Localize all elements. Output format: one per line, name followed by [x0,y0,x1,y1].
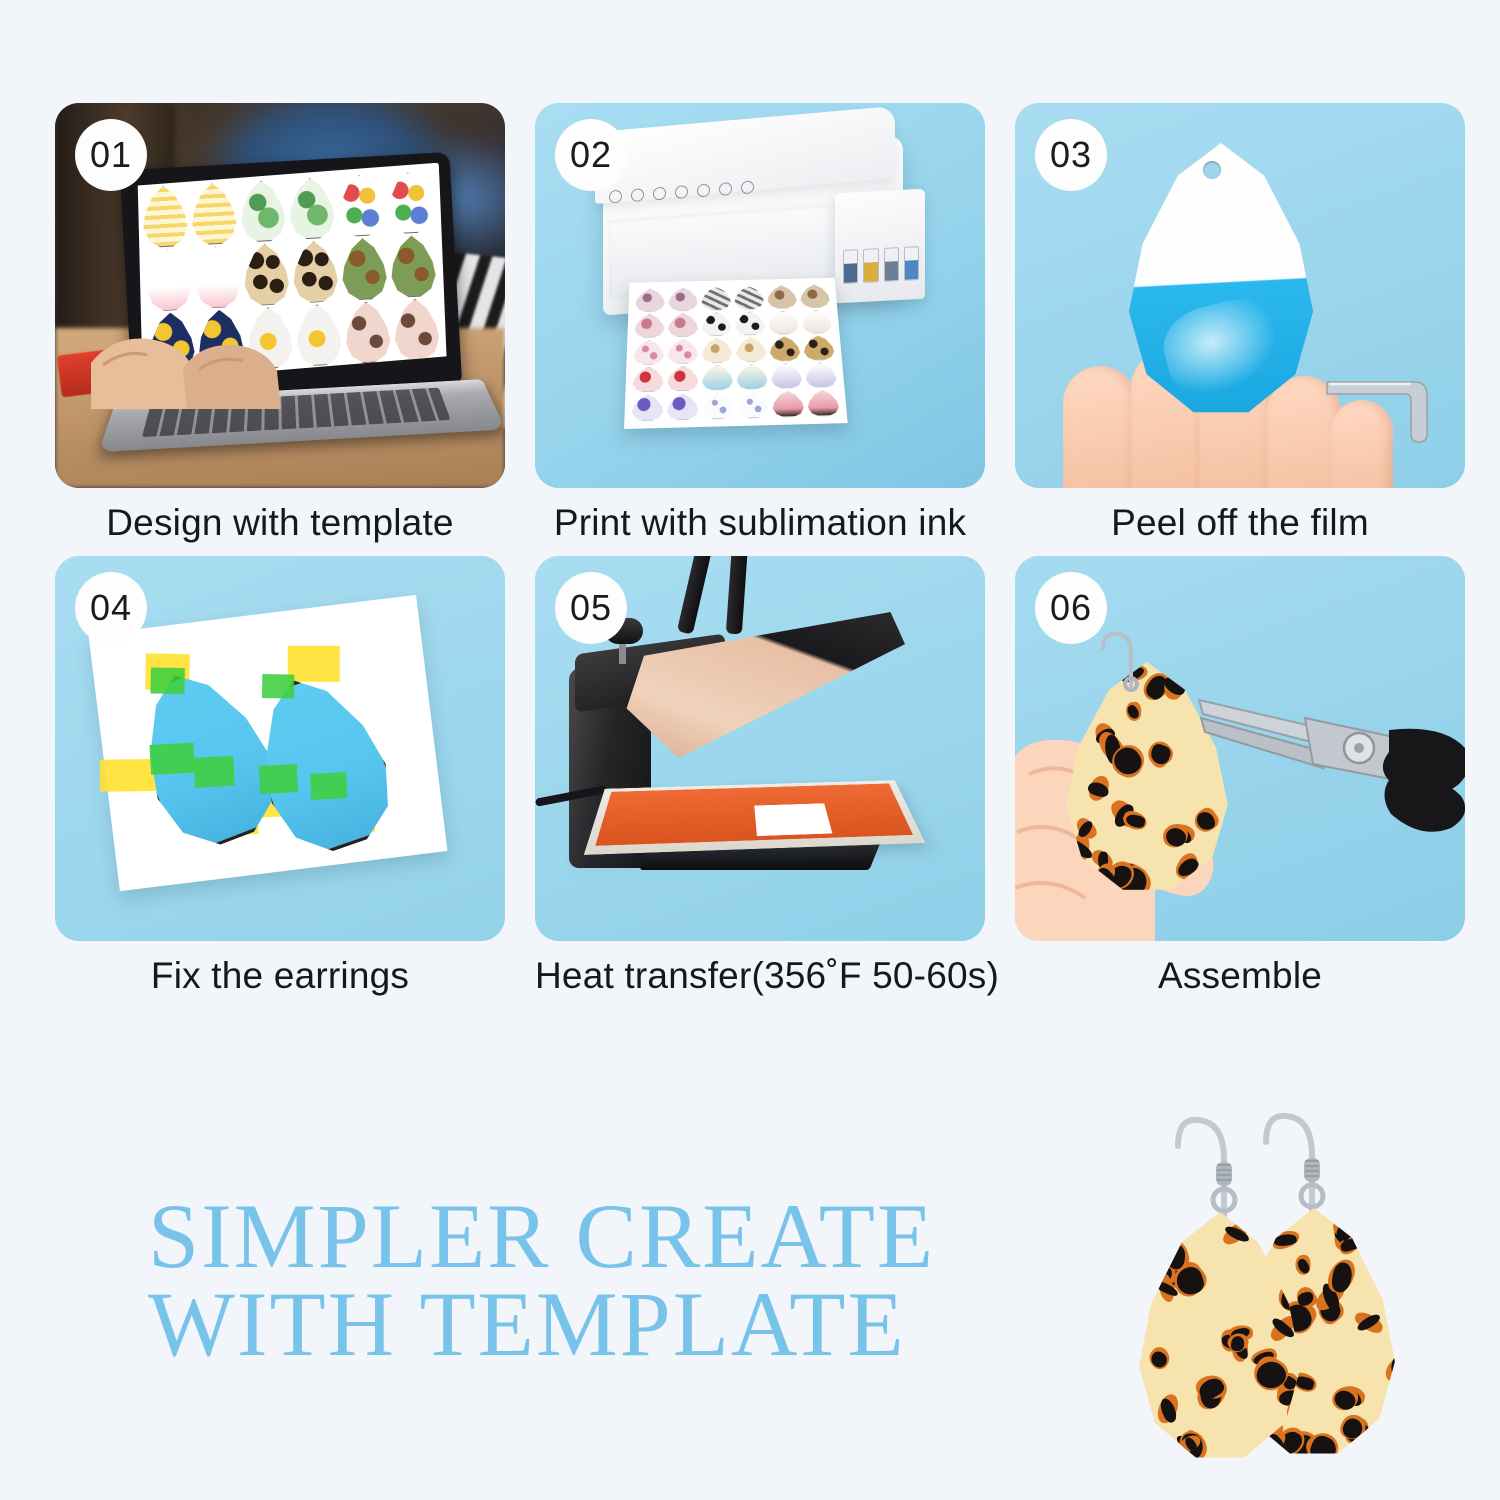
green-tape [310,772,347,800]
earring-design-swatch [342,300,392,364]
step-photo-01: 01 [55,103,505,488]
leopard-spot [1390,1214,1400,1238]
product-earrings-pair [1110,1108,1440,1493]
green-tape [150,667,184,694]
earring-design-swatch [633,313,665,338]
printer-button [741,180,754,194]
leopard-spot-accent [1137,1242,1167,1261]
ink-tank-black [843,249,858,284]
earring-design-swatch [667,287,698,311]
step-caption-06: Assemble [1015,955,1465,997]
earring-design-swatch [189,182,239,246]
earring-design-swatch [388,234,438,298]
earring-design-swatch [701,338,733,364]
earring-design-swatch [733,286,765,310]
finger [1063,366,1137,488]
green-tape [149,743,195,775]
earring-design-swatch [290,240,340,304]
pressure-knob-stem [619,642,626,664]
printer-button [719,181,732,195]
earring-design-swatch [701,312,733,337]
step-card-05: 05 Heat transfer(356˚F 50-60s) [535,556,985,997]
leopard-spot-accent [1370,1437,1398,1456]
earring-design-swatch [384,171,434,235]
earring-design-swatch [766,285,798,309]
step-number-badge-05: 05 [555,572,627,644]
metal-hook-tool [1319,348,1459,444]
leopard-spot [1389,1353,1400,1386]
earring-design-swatch [804,362,838,388]
earring-design-swatch [238,179,288,243]
step-caption-01: Design with template [55,502,505,544]
jewelry-pliers [1193,644,1465,834]
step-photo-02: 02 [535,103,985,488]
green-tape [259,764,298,794]
leopard-spot-accent [1360,1233,1391,1263]
heat-tape [100,759,157,792]
ink-tank-yellow [863,248,878,283]
step-card-06: 06 Assemble [1015,556,1465,997]
step-card-02: 02 Print with sublimation ink [535,103,985,544]
earring-design-swatch [799,284,832,308]
ear-hook-wire [1097,622,1167,692]
printer-button [653,186,666,200]
step-card-01: 01 Design with template [55,103,505,544]
step-number-badge-06: 06 [1035,572,1107,644]
orange-silicone-pad [595,784,913,846]
hands-graphic [91,299,321,409]
ink-tank-magenta [884,247,899,282]
step-caption-04: Fix the earrings [55,955,505,997]
heat-tape [288,646,340,682]
earring-design-swatch [771,390,806,417]
earring-design-swatch [806,389,841,416]
leopard-spot [1141,1239,1165,1266]
printer-button [675,185,688,199]
headline-text: SIMPLER CREATE WITH TEMPLATE [148,1192,935,1369]
earring-hole [1203,161,1221,179]
ear-hook-right [1260,1104,1326,1224]
leopard-spot-accent [1392,1211,1400,1239]
earring-design-swatch [701,287,732,311]
lower-platen [584,780,926,855]
earring-design-swatch [391,297,441,361]
earring-design-swatch [735,337,768,363]
step-photo-03: 03 [1015,103,1465,488]
earring-design-swatch [701,392,735,419]
earring-design-swatch [339,237,389,301]
earring-design-swatch [768,336,801,362]
earring-design-swatch [140,185,190,249]
earring-design-swatch [767,310,800,335]
green-tape [262,674,294,699]
step-photo-04: 04 [55,556,505,941]
white-paper-sheet [89,595,448,891]
step-card-04: 04 Fix the earrings [55,556,505,997]
white-transfer-sheet [754,803,832,836]
step-caption-03: Peel off the film [1015,502,1465,544]
step-card-03: 03 Peel off the film [1015,103,1465,544]
ink-tank-cyan [904,246,919,281]
steps-grid: 01 Design with template [55,103,1465,997]
earring-design-swatch [770,363,804,389]
printer-button [697,183,710,197]
typing-hands [91,299,321,409]
earring-design-swatch [666,365,699,392]
earring-design-swatch [667,339,699,365]
earring-design-swatch [666,393,699,420]
leopard-spot [1374,1442,1395,1456]
earring-design-swatch [736,391,770,418]
green-tape [193,756,235,788]
step-photo-06: 06 [1015,556,1465,941]
earring-design-swatch [286,177,336,241]
earring-design-swatch [735,364,768,390]
step-number-badge-01: 01 [75,119,147,191]
earring-design-swatch [667,313,699,338]
earring-design-swatch [632,366,665,393]
earring-design-swatch [701,365,734,391]
step-number-badge-02: 02 [555,119,627,191]
earring-design-swatch [802,335,836,361]
ink-tank-windows [843,246,919,284]
earring-design-swatch [335,174,385,238]
leopard-spot [1364,1237,1389,1261]
earring-design-swatch [800,309,833,334]
step-caption-05: Heat transfer(356˚F 50-60s) [535,955,985,997]
earring-design-swatch [241,242,291,306]
printer-button [631,188,644,202]
earring-design-swatch [632,339,665,365]
step-photo-05: 05 [535,556,985,941]
leopard-spot [1274,1234,1298,1248]
leopard-spot [1139,1441,1162,1460]
step-number-badge-03: 03 [1035,119,1107,191]
printer-button [609,189,622,203]
leopard-spot-accent [1138,1438,1164,1460]
step-caption-02: Print with sublimation ink [535,502,985,544]
printed-earring-sheet [624,278,848,429]
earring-design-swatch [634,288,666,312]
step-number-badge-04: 04 [75,572,147,644]
earring-design-swatch [631,394,665,421]
earring-design-swatch [734,311,766,336]
ear-hook-left [1172,1108,1238,1228]
infographic-page: 01 Design with template [0,0,1500,1500]
